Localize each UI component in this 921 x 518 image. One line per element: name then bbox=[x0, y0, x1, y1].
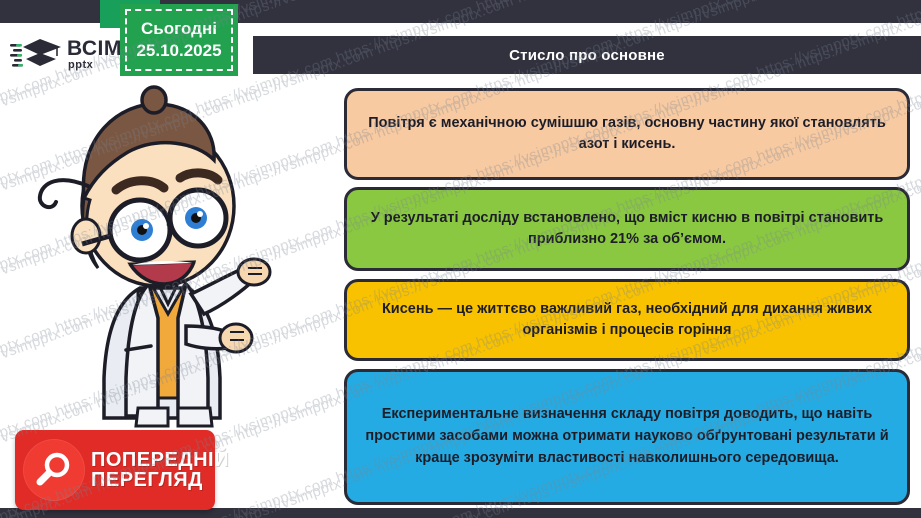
summary-box-text: У результаті досліду встановлено, що вмі… bbox=[361, 208, 893, 250]
slide-title-bar: Стисло про основне bbox=[253, 36, 921, 74]
today-date-badge: Сьогодні 25.10.2025 bbox=[120, 4, 238, 76]
summary-box-text: Кисень — це життєво важливий газ, необхі… bbox=[361, 299, 893, 341]
slide: Стисло про основне ВСІМ pptx bbox=[0, 0, 921, 518]
today-label: Сьогодні bbox=[141, 19, 217, 39]
magnifier-icon-circle bbox=[23, 439, 85, 501]
summary-box: Експериментальне визначення складу повіт… bbox=[344, 369, 910, 505]
summary-box-list: Повітря є механічною сумішшю газів, осно… bbox=[344, 88, 910, 506]
summary-box: Повітря є механічною сумішшю газів, осно… bbox=[344, 88, 910, 180]
magnifier-icon bbox=[34, 450, 74, 490]
brand-logo[interactable]: ВСІМ pptx bbox=[10, 32, 130, 76]
preview-label-line1: ПОПЕРЕДНІЙ bbox=[91, 450, 229, 470]
preview-badge[interactable]: ПОПЕРЕДНІЙ ПЕРЕГЛЯД bbox=[15, 430, 215, 510]
summary-box-text: Повітря є механічною сумішшю газів, осно… bbox=[361, 113, 893, 155]
graduation-cap-icon bbox=[10, 37, 62, 71]
page-title: Стисло про основне bbox=[509, 47, 665, 64]
summary-box: У результаті досліду встановлено, що вмі… bbox=[344, 187, 910, 271]
preview-label-line2: ПЕРЕГЛЯД bbox=[91, 470, 229, 490]
logo-subtitle: pptx bbox=[68, 60, 122, 71]
today-date: 25.10.2025 bbox=[136, 41, 221, 61]
summary-box: Кисень — це життєво важливий газ, необхі… bbox=[344, 279, 910, 361]
logo-name: ВСІМ bbox=[67, 38, 122, 59]
summary-box-text: Експериментальне визначення складу повіт… bbox=[361, 404, 893, 469]
scientist-boy-illustration bbox=[8, 78, 328, 428]
